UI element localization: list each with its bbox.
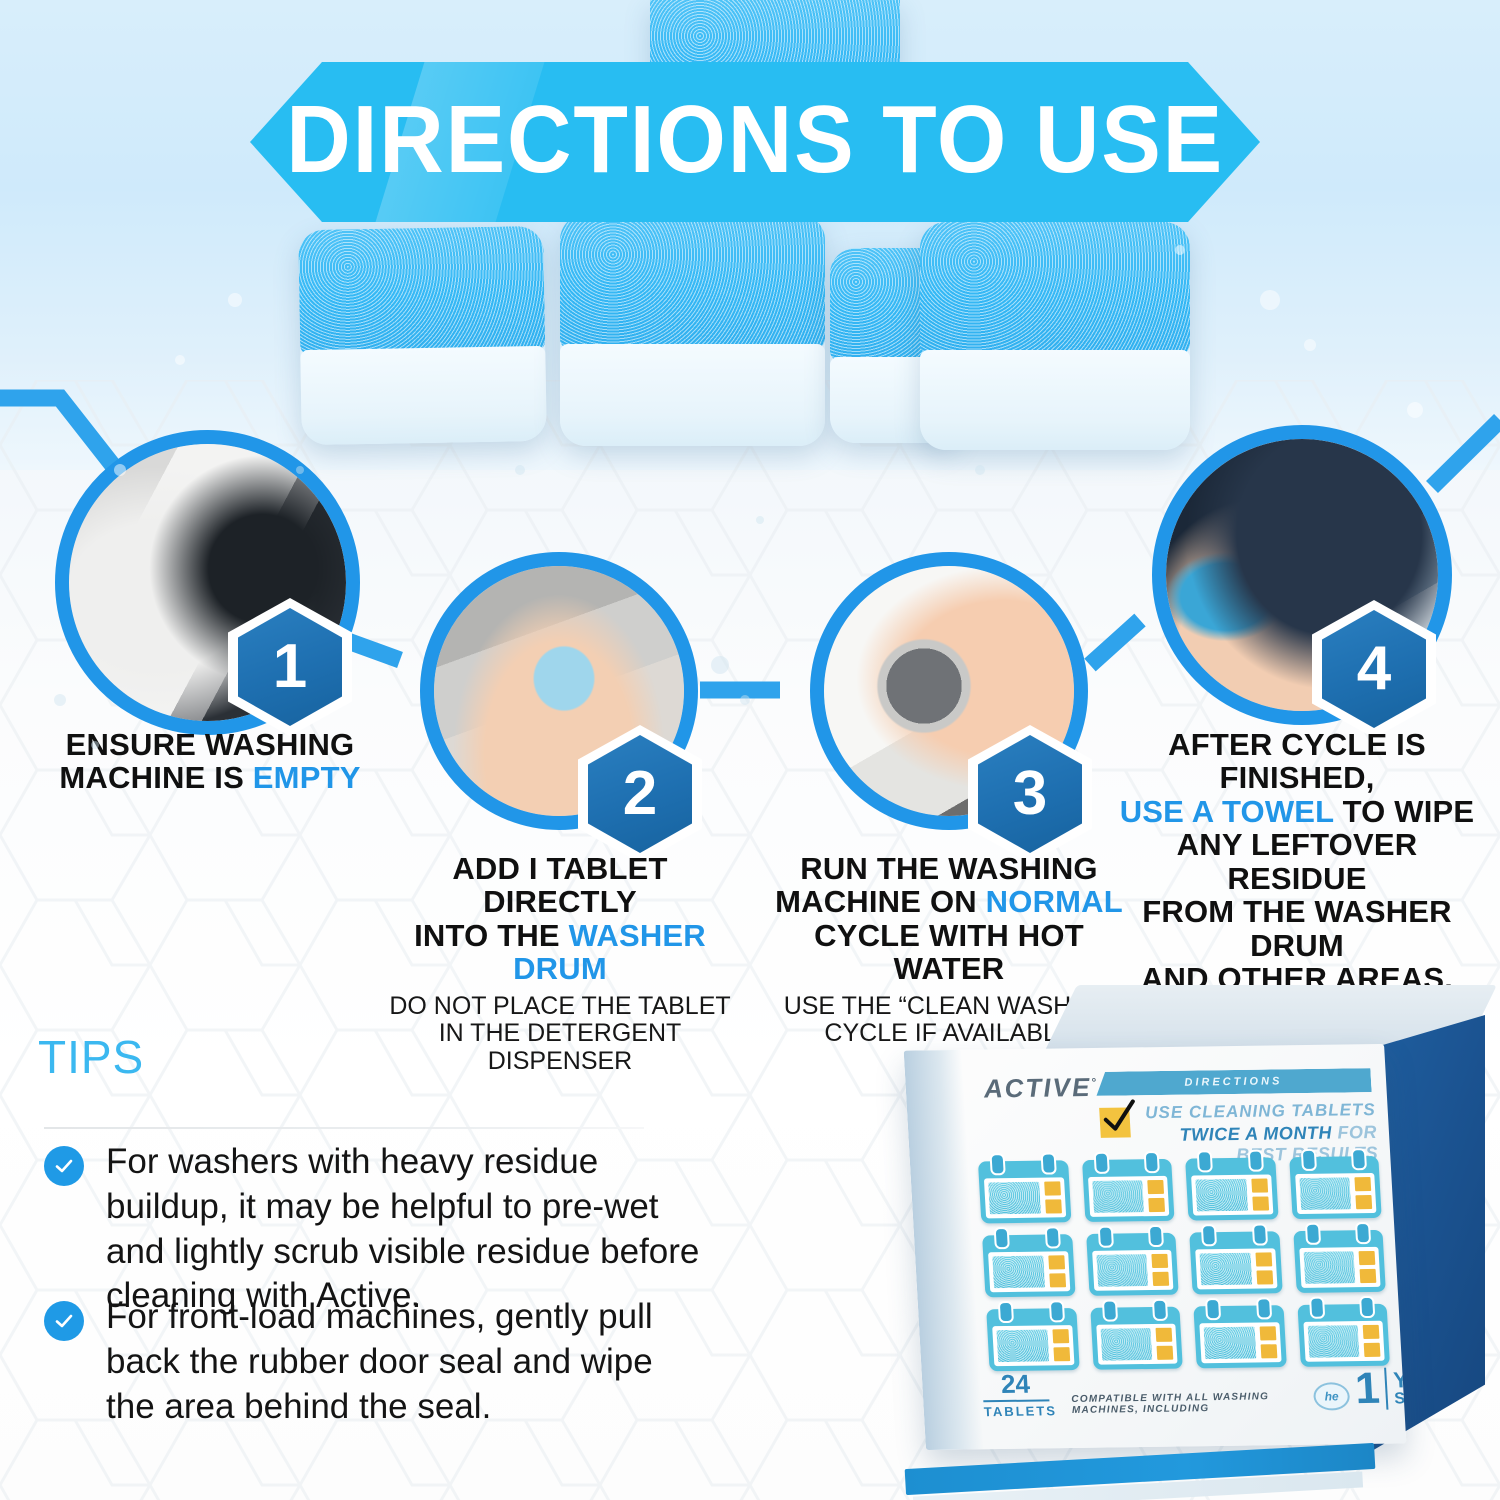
checkmark-icon bbox=[1096, 1095, 1141, 1143]
step-3-line-2: MACHINE ON NORMAL bbox=[775, 885, 1123, 918]
step-3-heading: RUN THE WASHING MACHINE ON NORMAL CYCLE … bbox=[775, 852, 1123, 986]
calendar-icon bbox=[986, 1308, 1079, 1371]
step-2-line-2: INTO THE WASHER DRUM bbox=[385, 919, 735, 986]
box-panel-shading bbox=[904, 1050, 984, 1450]
calendar-icon bbox=[1297, 1304, 1390, 1367]
calendar-icon bbox=[1189, 1231, 1282, 1294]
compatibility-text: COMPATIBLE WITH ALL WASHING MACHINES, IN… bbox=[1071, 1391, 1322, 1416]
step-2-caption: ADD I TABLET DIRECTLY INTO THE WASHER DR… bbox=[385, 852, 735, 1075]
step-4-highlight: USE A TOWEL bbox=[1120, 794, 1334, 829]
step-4-line-3: ANY LEFTOVER RESIDUE bbox=[1118, 828, 1476, 895]
step-2-heading: ADD I TABLET DIRECTLY INTO THE WASHER DR… bbox=[385, 852, 735, 986]
step-2-line-2-pre: INTO THE bbox=[414, 918, 569, 953]
tablet-count-number: 24 bbox=[982, 1370, 1050, 1397]
step-3-line-2-pre: MACHINE ON bbox=[775, 884, 986, 919]
tips-divider bbox=[44, 1127, 644, 1129]
step-1-highlight: EMPTY bbox=[253, 760, 361, 795]
tip-text-2: For front-load machines, gently pull bac… bbox=[106, 1295, 704, 1429]
directions-line-1: USE CLEANING TABLETS bbox=[1139, 1100, 1376, 1123]
step-1-heading: ENSURE WASHING MACHINE IS EMPTY bbox=[55, 728, 365, 795]
calendar-icon bbox=[1293, 1230, 1386, 1293]
page-title: DIRECTIONS TO USE bbox=[250, 85, 1260, 195]
tip-item-2: For front-load machines, gently pull bac… bbox=[44, 1295, 704, 1429]
step-2-number: 2 bbox=[623, 763, 657, 825]
calendar-icon bbox=[1086, 1233, 1179, 1296]
check-circle-icon bbox=[44, 1146, 84, 1186]
step-4-number: 4 bbox=[1357, 638, 1391, 700]
directions-bar-label: DIRECTIONS bbox=[1184, 1075, 1283, 1088]
supply-number: 1 bbox=[1354, 1369, 1381, 1409]
supply-block: 1 YEAR SUPPLY bbox=[1354, 1367, 1406, 1410]
product-box-photo: ACTIVE° DIRECTIONS USE CLEANING TABLETS … bbox=[905, 985, 1485, 1500]
step-3-line-3: CYCLE WITH HOT WATER bbox=[775, 919, 1123, 986]
box-front-panel: ACTIVE° DIRECTIONS USE CLEANING TABLETS … bbox=[904, 1044, 1407, 1450]
step-4-line-2: USE A TOWEL TO WIPE bbox=[1118, 795, 1476, 828]
tip-item-1: For washers with heavy residue buildup, … bbox=[44, 1140, 704, 1319]
calendar-icon-grid bbox=[978, 1156, 1390, 1371]
tablet-count-block: 24 TABLETS bbox=[982, 1370, 1051, 1419]
step-3-line-1: RUN THE WASHING bbox=[775, 852, 1123, 885]
step-2-badge: 2 bbox=[588, 735, 692, 853]
step-3-badge: 3 bbox=[978, 735, 1082, 853]
step-2-subtext: DO NOT PLACE THE TABLET IN THE DETERGENT… bbox=[385, 993, 735, 1076]
step-3-number: 3 bbox=[1013, 763, 1047, 825]
tip-text-1: For washers with heavy residue buildup, … bbox=[106, 1140, 704, 1319]
brand-logo: ACTIVE° bbox=[983, 1072, 1099, 1105]
box-footer: 24 TABLETS COMPATIBLE WITH ALL WASHING M… bbox=[981, 1361, 1405, 1427]
step-3-highlight: NORMAL bbox=[986, 884, 1123, 919]
step-1-number: 1 bbox=[273, 636, 307, 698]
calendar-icon bbox=[1082, 1159, 1175, 1222]
step-1-caption: ENSURE WASHING MACHINE IS EMPTY bbox=[55, 728, 365, 795]
step-1-line-2-pre: MACHINE IS bbox=[59, 760, 252, 795]
tips-heading: TIPS bbox=[38, 1030, 144, 1084]
step-4-badge: 4 bbox=[1322, 610, 1426, 728]
he-logo-icon: he bbox=[1313, 1382, 1351, 1410]
step-4-heading: AFTER CYCLE IS FINISHED, USE A TOWEL TO … bbox=[1118, 728, 1476, 996]
step-2-line-1: ADD I TABLET DIRECTLY bbox=[385, 852, 735, 919]
calendar-icon bbox=[982, 1234, 1075, 1297]
step-4-line-2-post: TO WIPE bbox=[1334, 794, 1475, 829]
tablet-count-word: TABLETS bbox=[983, 1399, 1050, 1419]
directions-to-use-infographic: DIRECTIONS TO USE 1 ENSURE WASHING MACHI… bbox=[0, 0, 1500, 1500]
header-banner: DIRECTIONS TO USE bbox=[250, 62, 1260, 222]
step-4-line-4: FROM THE WASHER DRUM bbox=[1118, 895, 1476, 962]
step-1-badge: 1 bbox=[238, 608, 342, 726]
directions-line-2-strong: TWICE A MONTH bbox=[1179, 1123, 1332, 1145]
brand-mark: ° bbox=[1091, 1075, 1099, 1089]
calendar-icon bbox=[1193, 1305, 1286, 1368]
calendar-icon bbox=[1289, 1156, 1382, 1219]
check-circle-icon bbox=[44, 1301, 84, 1341]
supply-divider bbox=[1385, 1368, 1389, 1410]
step-1-line-1: ENSURE WASHING bbox=[55, 728, 365, 761]
directions-bar: DIRECTIONS bbox=[1095, 1068, 1372, 1096]
step-4-caption: AFTER CYCLE IS FINISHED, USE A TOWEL TO … bbox=[1118, 728, 1476, 996]
step-1-line-2: MACHINE IS EMPTY bbox=[55, 761, 365, 794]
calendar-icon bbox=[1090, 1307, 1183, 1370]
step-4-line-1: AFTER CYCLE IS FINISHED, bbox=[1118, 728, 1476, 795]
calendar-icon bbox=[1185, 1157, 1278, 1220]
calendar-icon bbox=[978, 1160, 1071, 1223]
